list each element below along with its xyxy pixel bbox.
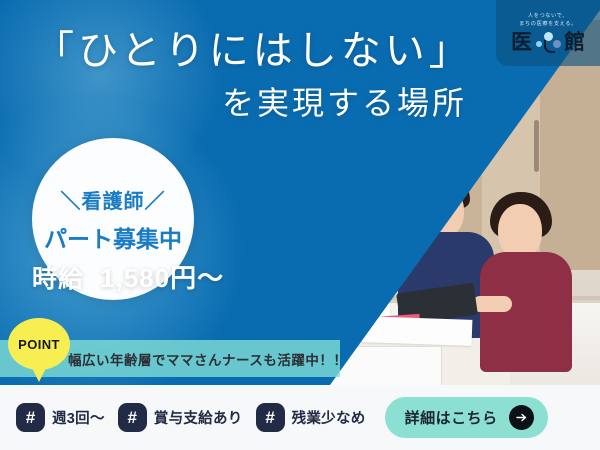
point-badge-label: POINT: [18, 337, 60, 352]
tag-label: 週3回〜: [52, 407, 105, 428]
cta-label: 詳細はこちら: [405, 407, 498, 428]
headline-line-2: を実現する場所: [34, 84, 554, 122]
point-text: 幅広い年齢層でママさんナースも活躍中！！: [68, 349, 347, 369]
hash-icon: #: [16, 403, 45, 432]
details-cta-button[interactable]: 詳細はこちら: [385, 397, 548, 438]
hash-icon: #: [118, 403, 147, 432]
logo-tagline: 人をつないで、 まちの医療を支える。: [519, 13, 577, 29]
tag-label: 賞与支給あり: [154, 407, 243, 428]
hourly-wage: 時給1,580円〜: [32, 258, 224, 295]
paper-stack: [362, 316, 473, 346]
tag-item: # 週3回〜: [16, 403, 105, 432]
headline: 「ひとりにはしない」 を実現する場所: [34, 28, 554, 122]
logo-tagline-line1: 人をつないで、: [519, 13, 577, 21]
wage-label: 時給: [32, 265, 84, 293]
scrub-top-maroon: [480, 252, 572, 372]
hash-icon: #: [256, 403, 285, 432]
badge-role-label: ＼看護師／: [61, 185, 166, 214]
wage-amount: 1,580円〜: [100, 263, 224, 293]
headline-line-1: 「ひとりにはしない」: [34, 28, 554, 74]
forearm: [472, 296, 512, 312]
tag-item: # 賞与支給あり: [118, 403, 243, 432]
tag-label: 残業少なめ: [292, 407, 366, 428]
recruitment-banner: 人をつないで、 まちの医療を支える。 医 館 「ひとりにはしない」 を実現する場…: [0, 0, 600, 450]
face: [498, 204, 542, 258]
tag-item: # 残業少なめ: [256, 403, 366, 432]
bottom-tag-bar: # 週3回〜 # 賞与支給あり # 残業少なめ 詳細はこちら: [0, 385, 600, 450]
hero-section: 人をつないで、 まちの医療を支える。 医 館 「ひとりにはしない」 を実現する場…: [0, 0, 600, 385]
arrow-right-icon: [509, 405, 534, 430]
door-handle-right: [534, 120, 539, 172]
badge-status-label: パート募集中: [44, 220, 182, 254]
point-badge: POINT: [8, 318, 70, 370]
logo-char-kan: 館: [564, 32, 585, 53]
